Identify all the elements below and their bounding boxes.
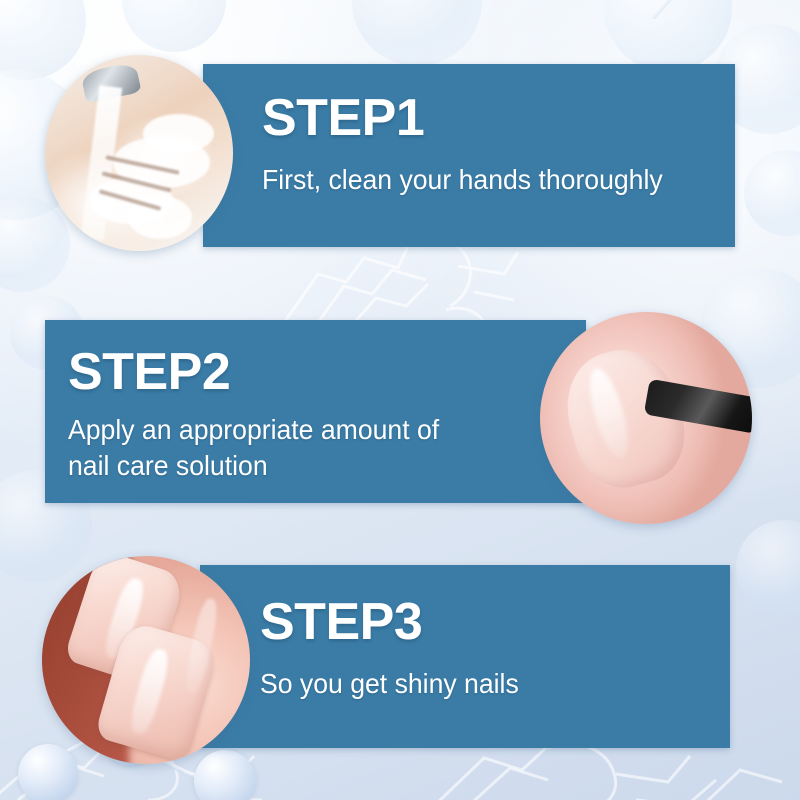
step3-text-group: STEP3 So you get shiny nails [260, 596, 720, 702]
shiny-nails-photo [42, 556, 250, 764]
step3-title: STEP3 [260, 596, 720, 648]
step-block-3: STEP3 So you get shiny nails [0, 0, 800, 800]
step3-description: So you get shiny nails [260, 666, 697, 702]
poster-canvas: STEP1 First, clean your hands thoroughly… [0, 0, 800, 800]
